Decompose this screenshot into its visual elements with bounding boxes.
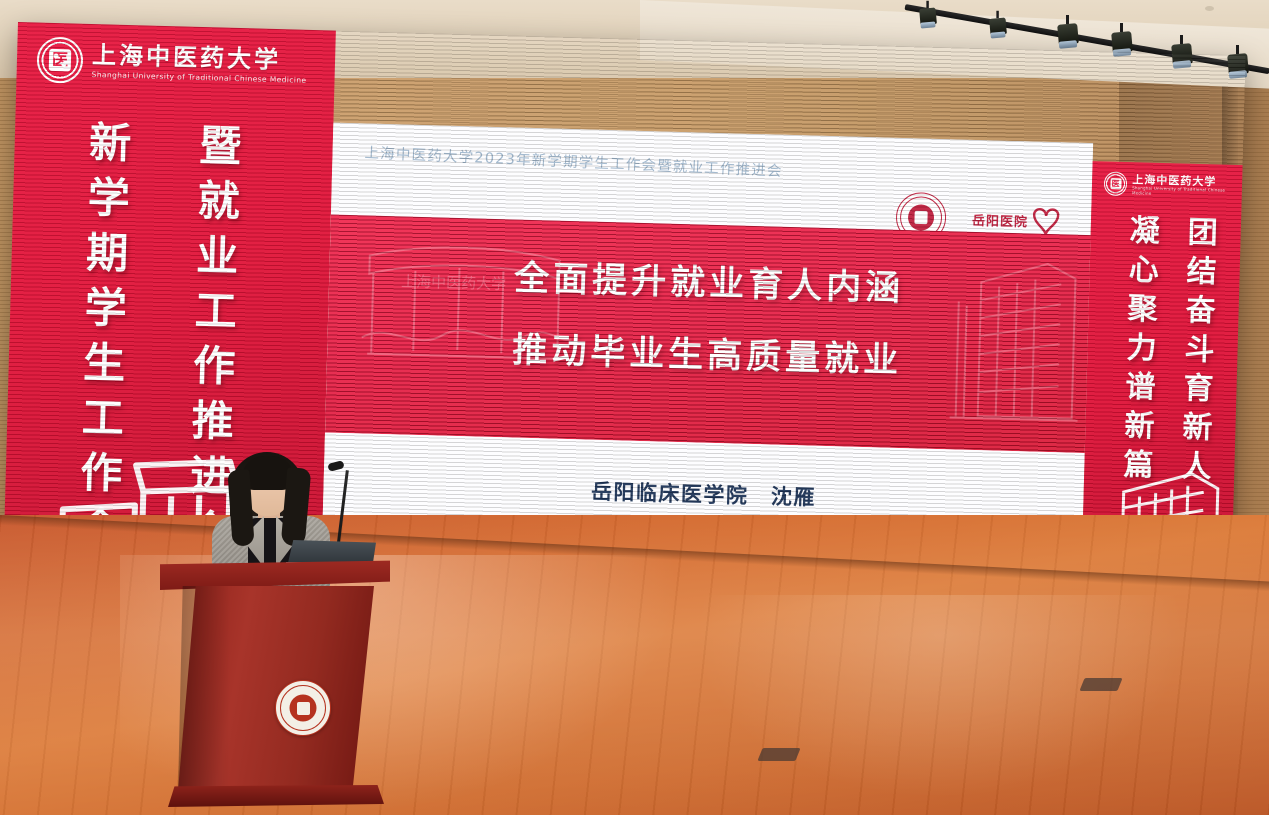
floor-vent [757,748,800,761]
slide-title-band: 上海中医药大学 全面提升就业育人内涵 推动毕业生高质量就业 [325,215,1091,453]
heart-icon [1031,205,1062,236]
podium-top [160,560,390,590]
stage-scene: 医 上海中医药大学 Shanghai University of Traditi… [0,0,1269,815]
shutcm-seal-logo: 医 [1104,171,1128,196]
speaker-podium [160,560,390,815]
yueyang-hospital-label: 岳阳医院 [972,209,1029,230]
slide-presenter-line: 岳阳临床医学院 沈雁 [323,468,1084,519]
sprinkler-head [1205,6,1214,11]
right-panel-column-1: 凝心聚力谱新篇 [1112,214,1163,488]
right-panel-column-2: 团结奋斗育新人 [1170,215,1221,489]
podium-side-face [178,586,230,791]
right-panel-logo-row: 医 上海中医药大学 Shanghai University of Traditi… [1104,171,1243,199]
slide-top-banner: 上海中医药大学2023年新学期学生工作会暨就业工作推进会 [332,123,1093,206]
right-panel-university-name-en: Shanghai University of Traditional Chine… [1132,185,1242,198]
stage-spotlight [920,7,936,30]
shutcm-seal-logo: 医 [36,37,83,84]
stage-spotlight [990,17,1006,40]
left-panel-university-name-cn: 上海中医药大学 [92,43,308,74]
stage-spotlight [1058,22,1078,50]
left-panel-logo-row: 医 上海中医药大学 Shanghai University of Traditi… [36,37,307,90]
slide-banner-text: 上海中医药大学2023年新学期学生工作会暨就业工作推进会 [364,141,783,181]
floor-vent [1079,678,1122,691]
shutcm-seal-emblem [275,680,331,736]
podium-base [168,785,384,807]
